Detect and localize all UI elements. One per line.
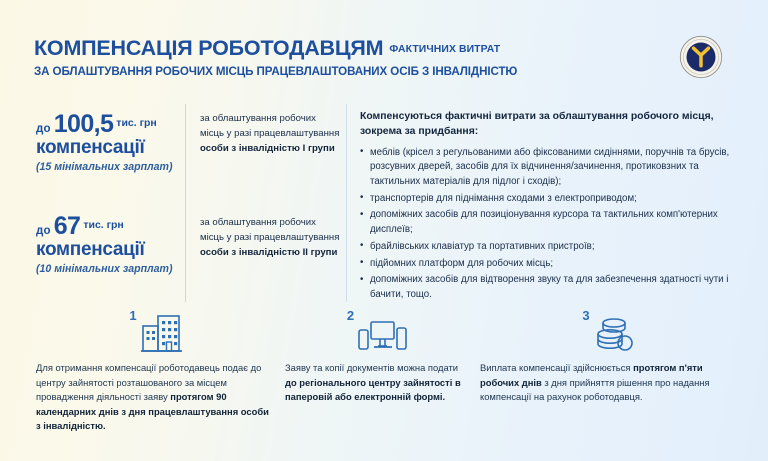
infographic-poster: КОМПЕНСАЦІЯ РОБОТОДАВЦЯМФАКТИЧНИХ ВИТРАТ… [0,0,768,461]
title-block: КОМПЕНСАЦІЯ РОБОТОДАВЦЯМФАКТИЧНИХ ВИТРАТ… [34,38,634,78]
state-employment-service-logo [679,35,723,79]
step-1: 1 [36,306,276,434]
amount-row-2: до67тис. грн [36,214,186,239]
steps-section: 1 [0,306,768,456]
building-icon [139,312,183,354]
amount-word: компенсації [36,138,186,158]
page-title: КОМПЕНСАЦІЯ РОБОТОДАВЦЯМ [34,36,383,60]
step-text-plain: Заяву та копії документів можна подати [285,362,458,373]
step-number: 1 [129,308,136,323]
list-item: брайлівських клавіатур та портативних пр… [360,240,750,255]
step-number: 3 [582,308,589,323]
amount-unit: тис. грн [80,219,123,231]
amount-description-1: за облаштування робочих місць у разі пра… [200,112,340,157]
amount-prefix: до [36,225,51,237]
step-text-plain: Виплата компенсації здійснюється [480,362,633,373]
header: КОМПЕНСАЦІЯ РОБОТОДАВЦЯМФАКТИЧНИХ ВИТРАТ… [0,0,768,95]
step-1-icon-wrap: 1 [36,306,276,354]
coverage-section: Компенсуються фактичні витрати за облашт… [360,110,750,305]
description-plain: за облаштування робочих місць у разі пра… [200,217,339,243]
page-title-suffix: ФАКТИЧНИХ ВИТРАТ [383,44,500,55]
step-text-plain: Для отримання компенсації роботодавець п… [36,362,261,402]
step-text-bold: до регіонального центру зайнятості в пап… [285,377,461,403]
amount-block-group-1: до100,5тис. грн компенсації (15 мінімаль… [36,112,186,173]
step-2: 2 Заяву та копії документів можна подати… [285,306,470,405]
column-divider-right [346,104,347,302]
amount-prefix: до [36,123,51,135]
devices-icon [356,314,408,354]
step-3-icon-wrap: 3 [480,306,740,354]
title-line-primary: КОМПЕНСАЦІЯ РОБОТОДАВЦЯМФАКТИЧНИХ ВИТРАТ [34,38,634,60]
amount-row-1: до100,5тис. грн [36,112,186,137]
amount-note: (15 мінімальних зарплат) [36,161,186,173]
step-2-text: Заяву та копії документів можна подати д… [285,361,470,405]
amount-note: (10 мінімальних зарплат) [36,263,186,275]
amount-unit: тис. грн [113,117,156,129]
coverage-list: меблів (крісел з регульованими або фіксо… [360,146,750,303]
description-plain: за облаштування робочих місць у разі пра… [200,113,339,139]
coverage-heading: Компенсуються фактичні витрати за облашт… [360,110,750,140]
step-3-text: Виплата компенсації здійснюється протяго… [480,361,740,405]
amount-value: 100,5 [51,110,114,138]
step-3: 3 Виплата компенсації здійснюється протя… [480,306,740,405]
page-subtitle: ЗА ОБЛАШТУВАННЯ РОБОЧИХ МІСЦЬ ПРАЦЕВЛАШТ… [34,65,634,78]
amount-description-2: за облаштування робочих місць у разі пра… [200,216,340,261]
step-2-icon-wrap: 2 [285,306,470,354]
amount-block-group-2: до67тис. грн компенсації (10 мінімальних… [36,214,186,275]
list-item: транспортерів для піднімання сходами з е… [360,192,750,207]
list-item: допоміжних засобів для позиціонування ку… [360,208,750,237]
list-item: підйомних платформ для робочих місць; [360,257,750,272]
step-1-text: Для отримання компенсації роботодавець п… [36,361,276,434]
amount-value: 67 [51,212,81,240]
list-item: меблів (крісел з регульованими або фіксо… [360,146,750,190]
list-item: допоміжних засобів для відтворення звуку… [360,273,750,302]
step-number: 2 [347,308,354,323]
description-bold: особи з інвалідністю ІІ групи [200,247,337,258]
coins-icon [592,314,638,354]
amount-word: компенсації [36,240,186,260]
description-bold: особи з інвалідністю І групи [200,143,335,154]
